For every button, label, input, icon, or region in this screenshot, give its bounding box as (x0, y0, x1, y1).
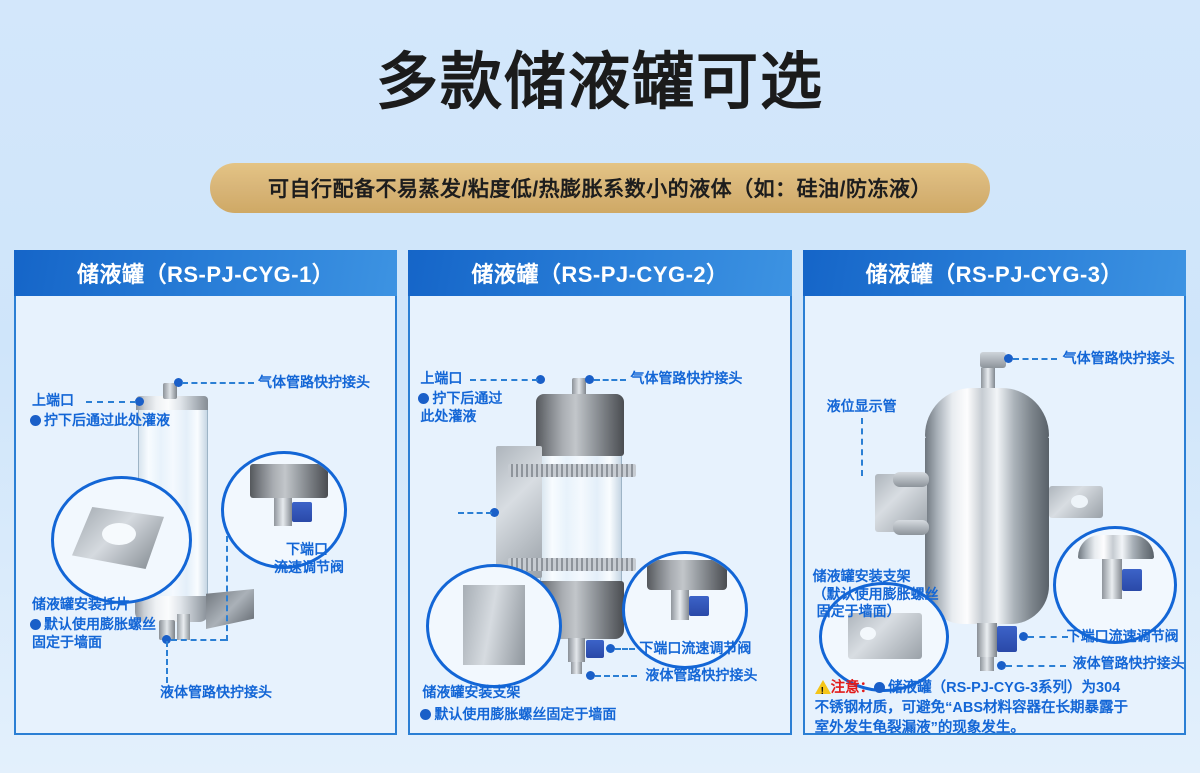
label-bracket-title-3: 储液罐安装支架 (813, 568, 911, 585)
panel-3-title: 储液罐（RS-PJ-CYG-3） (866, 257, 1123, 289)
panel-2-title: 储液罐（RS-PJ-CYG-2） (471, 257, 728, 289)
bullet-icon (874, 682, 885, 693)
dot-valve-3 (1019, 632, 1028, 641)
tank-2-outlet-tip (571, 662, 582, 674)
label-gas-fitting-3: 气体管路快拧接头 (1063, 350, 1175, 367)
tank-2-clamp-lower (508, 558, 636, 571)
warning-tag: 注意： (831, 680, 875, 696)
inset-mounting-bracket-2 (426, 564, 562, 688)
tank-2-outlet-fitting (568, 638, 585, 662)
tank-3-bracket-hole (1071, 495, 1088, 508)
bullet-icon (420, 709, 431, 720)
leader-gas-fitting-2 (594, 379, 626, 381)
warning-line-3: 室外发生龟裂漏液”的现象发生。 (815, 718, 1184, 733)
tank-3-gas-fitting-art (980, 352, 1006, 368)
warning-triangle-icon (815, 680, 831, 694)
label-bottom-port-3: 下端口流速调节阀 (1067, 628, 1179, 645)
label-bracket-note-2: 默认使用膨胀螺丝固定于墙面 (420, 706, 616, 723)
tank-2-top-cap (536, 394, 624, 456)
panel-1-header: 储液罐（RS-PJ-CYG-1） (14, 250, 397, 296)
inset-mounting-plate (51, 476, 192, 604)
leader-level-tube-3 (861, 418, 863, 476)
panel-cyg-3: 储液罐（RS-PJ-CYG-3） (803, 250, 1186, 735)
label-bottom-port-1: 下端口 (286, 541, 328, 558)
tank-2-clamp-upper (508, 464, 636, 477)
valve3-detail-knob (1122, 569, 1142, 591)
leader-valve-3 (1028, 636, 1068, 638)
label-bracket-note-3a: （默认使用膨胀螺丝 (813, 586, 939, 603)
subtitle-banner: 可自行配备不易蒸发/粘度低/热膨胀系数小的液体（如：硅油/防冻液） (210, 163, 990, 213)
label-gas-fitting-1: 气体管路快拧接头 (258, 374, 370, 391)
label-top-port-note-2b: 此处灌液 (420, 408, 476, 425)
bullet-icon (418, 393, 429, 404)
inset-flow-valve-1 (221, 451, 347, 569)
leader-outlet-1 (171, 639, 226, 641)
tank-3-outlet-fitting (977, 623, 997, 657)
dot-gas-fitting-3 (1004, 354, 1013, 363)
dot-valve-2 (606, 644, 615, 653)
tank-3-level-port-lower (893, 520, 929, 535)
inset-flow-valve-3 (1053, 526, 1177, 644)
leader-top-port-1 (86, 401, 136, 403)
dot-gas-fitting-2 (585, 375, 594, 384)
leader-liquid-3 (1006, 665, 1066, 667)
panel-2-body: 上端口 拧下后通过 此处灌液 气体管路快拧接头 下端口流速调节阀 液体管路快拧接… (410, 296, 789, 733)
leader-liquid-2 (595, 675, 637, 677)
tank-3-body (925, 438, 1049, 586)
bullet-icon (30, 415, 41, 426)
valve2-detail-knob (689, 596, 709, 616)
panel-3-body: 气体管路快拧接头 液位显示管 储液罐安装支架 （默认使用膨胀螺丝 固定于墙面） … (805, 296, 1184, 733)
leader-valve-up-1 (226, 536, 228, 641)
dot-liquid-3 (997, 661, 1006, 670)
valve3-detail-stem (1102, 559, 1122, 599)
panel-cyg-1: 储液罐（RS-PJ-CYG-1） (14, 250, 397, 735)
label-liquid-fitting-2: 液体管路快拧接头 (645, 667, 757, 684)
panel-cyg-2: 储液罐（RS-PJ-CYG-2） (408, 250, 791, 735)
label-bracket-note-3b: 固定于墙面） (817, 603, 901, 620)
label-top-port-note-1: 拧下后通过此处灌液 (30, 412, 170, 429)
label-flow-valve-1: 流速调节阀 (274, 559, 344, 576)
product-panels: 储液罐（RS-PJ-CYG-1） (14, 250, 1186, 735)
subtitle-text: 可自行配备不易蒸发/粘度低/热膨胀系数小的液体（如：硅油/防冻液） (268, 173, 932, 203)
valve-detail-stem (274, 498, 292, 526)
dot-top-port-1 (135, 397, 144, 406)
page-title: 多款储液罐可选 (0, 47, 1200, 119)
valve3-detail-cap (1078, 535, 1154, 559)
warning-line-2: 不锈钢材质，可避免“ABS材料容器在长期暴露于 (815, 698, 1184, 718)
tank-3-dome-top (925, 388, 1049, 440)
leader-gas-fitting-1 (182, 382, 254, 384)
leader-valve-2 (615, 648, 635, 650)
label-top-port-2: 上端口 (420, 370, 462, 387)
label-bracket-note-1b: 固定于墙面 (32, 634, 102, 651)
tank-3-outlet-tip (980, 657, 994, 671)
label-bottom-port-2: 下端口流速调节阀 (639, 640, 751, 657)
label-liquid-fitting-1: 液体管路快拧接头 (160, 684, 272, 701)
leader-bracket-2 (458, 512, 492, 514)
valve2-detail-stem (671, 590, 689, 620)
leader-liquid-1 (166, 641, 168, 683)
valve-detail-body (250, 464, 328, 498)
leader-top-port-2 (470, 379, 538, 381)
warning-note: 注意：储液罐（RS-PJ-CYG-3系列）为304 不锈钢材质，可避免“ABS材… (815, 678, 1184, 733)
label-liquid-fitting-3: 液体管路快拧接头 (1073, 655, 1184, 672)
label-top-port-1: 上端口 (32, 392, 74, 409)
tank-3-valve-knob (997, 626, 1017, 652)
panel-2-header: 储液罐（RS-PJ-CYG-2） (408, 250, 791, 296)
panel-1-title: 储液罐（RS-PJ-CYG-1） (77, 257, 334, 289)
label-gas-fitting-2: 气体管路快拧接头 (630, 370, 742, 387)
bracket3-detail-hole (860, 627, 876, 640)
label-bracket-title-1: 储液罐安装托片 (32, 596, 130, 613)
label-bracket-note-1: 默认使用膨胀螺丝 (30, 616, 156, 633)
valve2-detail-body (647, 560, 727, 590)
panel-3-header: 储液罐（RS-PJ-CYG-3） (803, 250, 1186, 296)
panel-1-body: 上端口 拧下后通过此处灌液 气体管路快拧接头 下端口 流速调节阀 储液罐安装托片… (16, 296, 395, 733)
bracket-detail-art (463, 585, 525, 665)
label-top-port-note-2a: 拧下后通过 (418, 390, 502, 407)
valve-detail-knob (292, 502, 312, 522)
warning-text-a: 储液罐（RS-PJ-CYG-3系列）为 (888, 680, 1096, 696)
tank-1-outlet-tube (177, 614, 190, 640)
warning-material-number: 304 (1096, 680, 1120, 696)
label-bracket-title-2: 储液罐安装支架 (422, 684, 520, 701)
leader-gas-fitting-3 (1013, 358, 1057, 360)
tank-3-level-port-upper (893, 472, 929, 487)
mounting-plate-hole (102, 523, 136, 545)
tank-1-wall-plate (206, 589, 254, 629)
label-level-tube-3: 液位显示管 (827, 398, 897, 415)
dot-liquid-2 (586, 671, 595, 680)
tank-2-valve-knob (586, 640, 604, 658)
warning-line-1: 注意：储液罐（RS-PJ-CYG-3系列）为304 (815, 678, 1184, 698)
bullet-icon (30, 619, 41, 630)
